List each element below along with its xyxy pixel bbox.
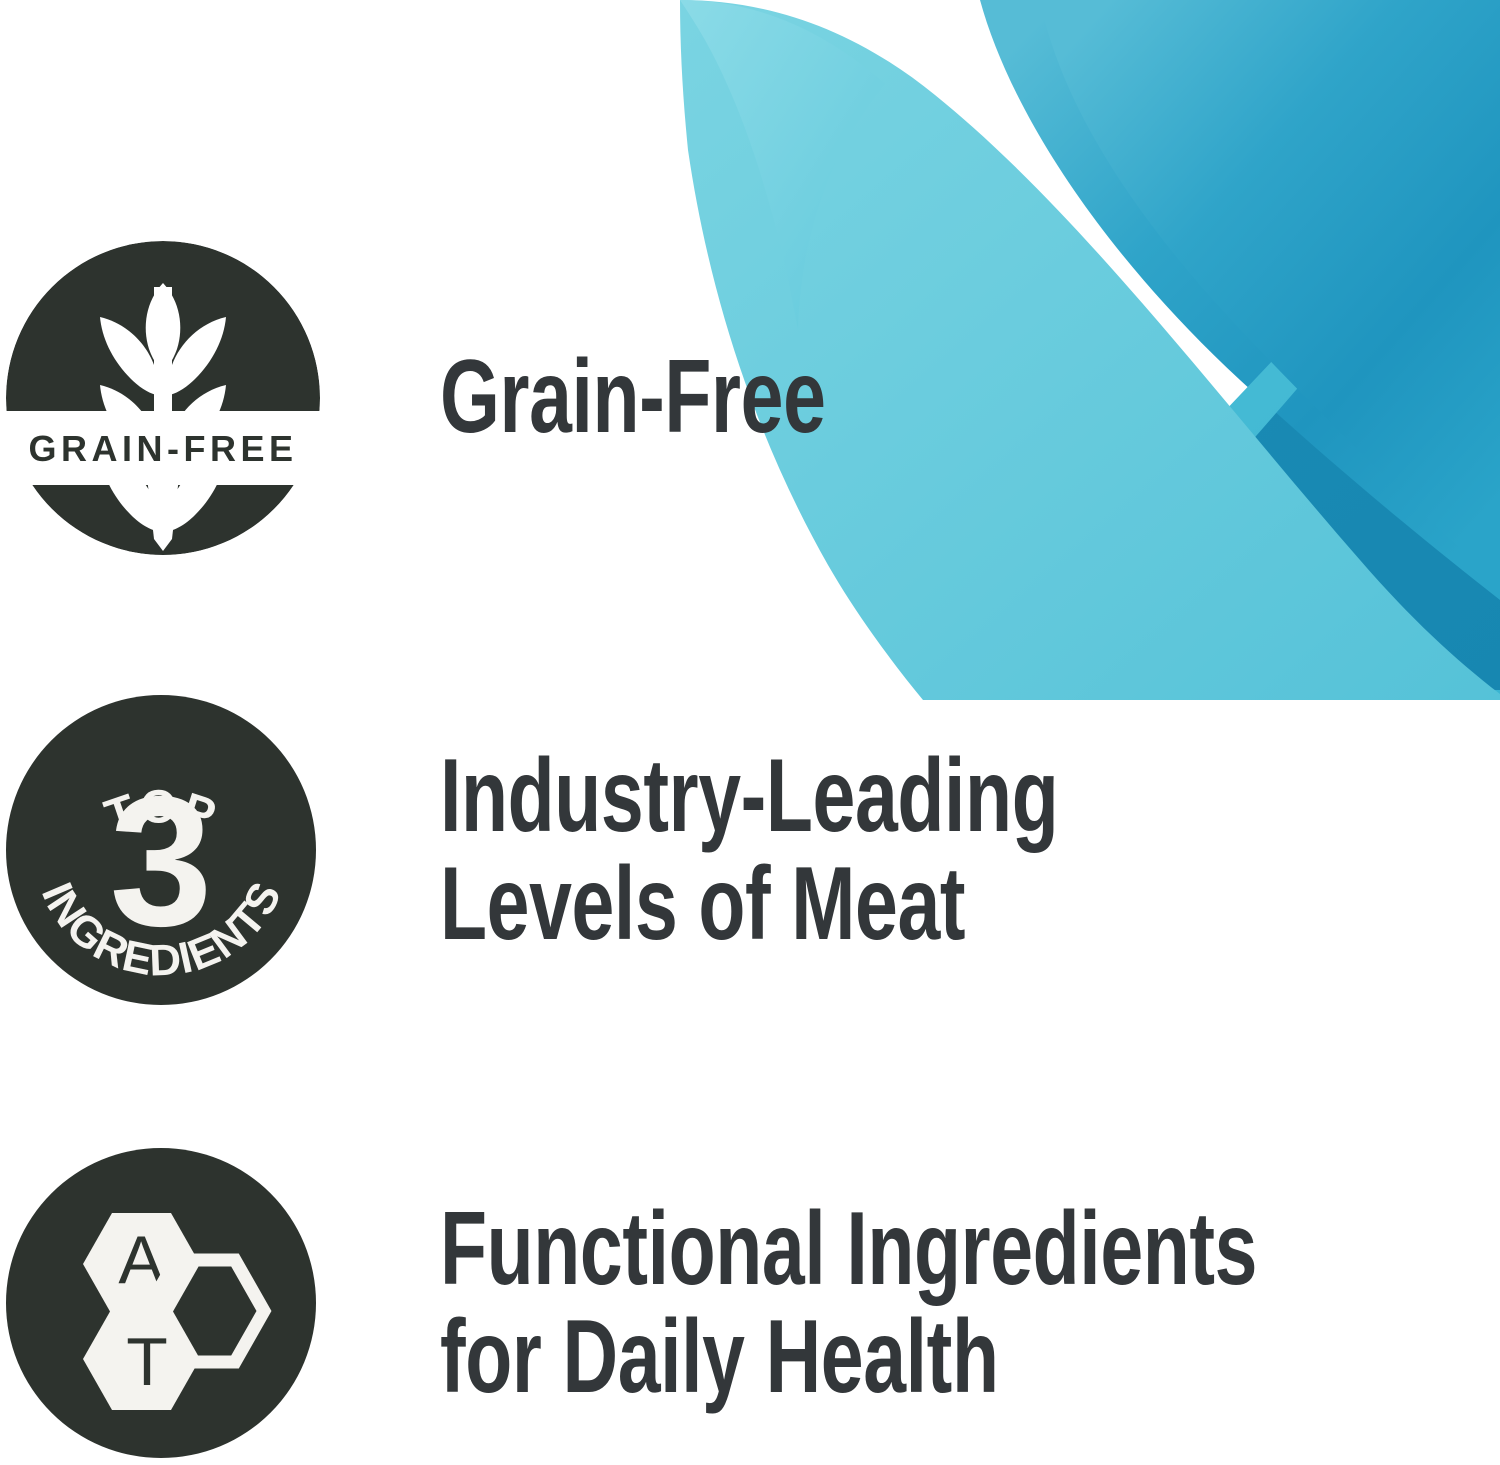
feature-row-grain-free: GRAIN-FREE Grain-Free <box>0 238 1500 558</box>
feature-text-functional-ingredients: Functional Ingredients for Daily Health <box>440 1196 1257 1410</box>
badge-wrap-top-3-ingredients: TOP 3 INGREDIENTS <box>0 693 330 1008</box>
badge-wrap-grain-free: GRAIN-FREE <box>0 238 330 558</box>
feature-list: GRAIN-FREE Grain-Free TOP 3 INGREDIENTS <box>0 0 1500 1465</box>
feature-line: Industry-Leading <box>440 743 1224 850</box>
hexagon-t-label: T <box>126 1324 168 1400</box>
functional-ingredients-badge-icon: A T <box>4 1146 319 1461</box>
grain-free-badge-icon: GRAIN-FREE <box>4 239 322 557</box>
feature-line: for Daily Health <box>440 1304 1257 1411</box>
feature-row-functional-ingredients: A T Functional Ingredients for Daily Hea… <box>0 1146 1500 1461</box>
feature-text-grain-free: Grain-Free <box>440 344 1224 451</box>
badge-wrap-functional-ingredients: A T <box>0 1146 330 1461</box>
feature-row-top-3-ingredients: TOP 3 INGREDIENTS Industry-Leading Level… <box>0 693 1500 1008</box>
feature-text-industry-leading: Industry-Leading Levels of Meat <box>440 743 1224 957</box>
top-3-ingredients-badge-icon: TOP 3 INGREDIENTS <box>4 693 319 1008</box>
grain-free-badge-label: GRAIN-FREE <box>29 428 298 469</box>
feature-line: Levels of Meat <box>440 851 1224 958</box>
feature-line: Functional Ingredients <box>440 1196 1257 1303</box>
feature-line: Grain-Free <box>440 344 1224 451</box>
